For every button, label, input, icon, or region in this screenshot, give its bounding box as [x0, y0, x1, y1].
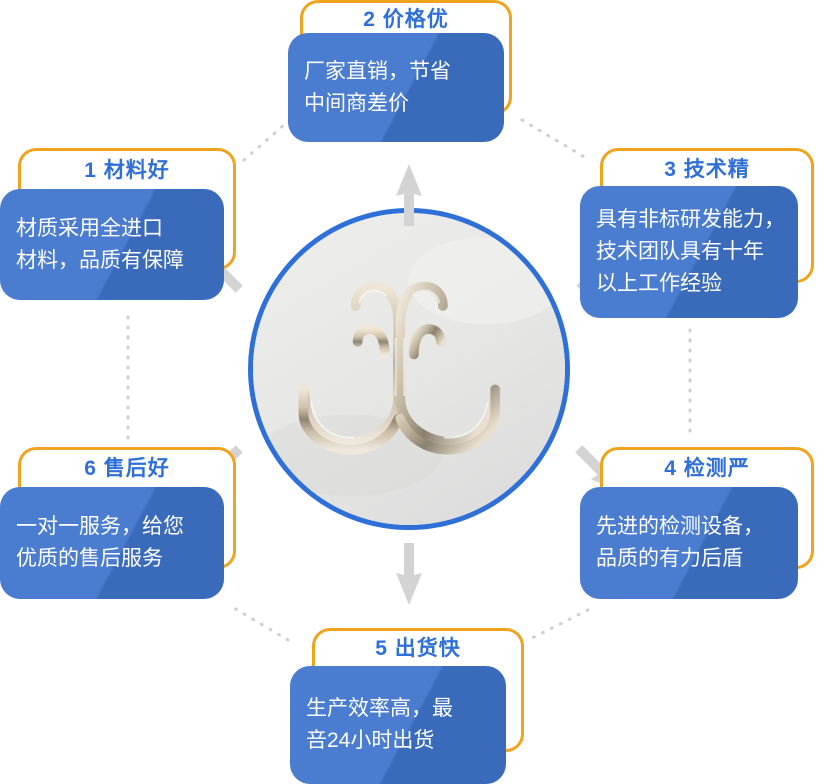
card-body-line: 中间商差价 — [304, 88, 488, 120]
card-title: 6 售后好 — [18, 458, 236, 479]
card-title: 2 价格优 — [300, 9, 512, 30]
center-product-circle — [248, 208, 570, 530]
advantage-card-3[interactable]: 3 技术精 具有非标研发能力， 技术团队具有十年 以上工作经验 — [580, 148, 817, 318]
product-photo-metal-wire-hooks — [253, 213, 565, 525]
card-body-line: 材质采用全进口 — [16, 213, 208, 245]
card-body: 材质采用全进口 材料，品质有保障 — [0, 213, 224, 277]
card-body-line: 具有非标研发能力， — [596, 204, 782, 236]
card-body-line: 厂家直销，节省 — [304, 56, 488, 88]
hex-edge-2-3 — [522, 120, 586, 158]
card-body: 生产效率高，最 咅24小时出货 — [290, 693, 506, 757]
advantage-card-5[interactable]: 5 出货快 生产效率高，最 咅24小时出货 — [290, 628, 534, 784]
center-circle-ring — [248, 208, 570, 530]
card-body-line: 技术团队具有十年 — [596, 236, 782, 268]
card-body: 先进的检测设备， 品质的有力后盾 — [580, 511, 798, 575]
advantage-card-6[interactable]: 6 售后好 一对一服务，给您 优质的售后服务 — [0, 447, 250, 599]
infographic-six-advantages: 1 材料好 材质采用全进口 材料，品质有保障 2 价格优 厂家直销，节省 中间商… — [0, 0, 817, 784]
card-body-line: 生产效率高，最 — [306, 693, 490, 725]
card-panel: 生产效率高，最 咅24小时出货 — [290, 666, 506, 784]
card-title: 3 技术精 — [600, 159, 814, 180]
card-panel: 一对一服务，给您 优质的售后服务 — [0, 487, 224, 599]
card-panel: 具有非标研发能力， 技术团队具有十年 以上工作经验 — [580, 186, 798, 318]
card-body-line: 以上工作经验 — [596, 268, 782, 300]
card-body-line: 先进的检测设备， — [596, 511, 782, 543]
hex-edge-5-6 — [234, 608, 288, 640]
card-body: 具有非标研发能力， 技术团队具有十年 以上工作经验 — [580, 204, 798, 300]
advantage-card-2[interactable]: 2 价格优 厂家直销，节省 中间商差价 — [288, 0, 528, 142]
card-title: 1 材料好 — [18, 160, 236, 181]
hex-edge-1-2 — [244, 118, 292, 160]
hex-edge-4-5 — [528, 610, 588, 640]
card-panel: 材质采用全进口 材料，品质有保障 — [0, 189, 224, 300]
card-body: 厂家直销，节省 中间商差价 — [288, 56, 504, 120]
card-panel: 先进的检测设备， 品质的有力后盾 — [580, 487, 798, 599]
advantage-card-4[interactable]: 4 检测严 先进的检测设备， 品质的有力后盾 — [580, 447, 817, 599]
card-body: 一对一服务，给您 优质的售后服务 — [0, 511, 224, 575]
card-body-line: 一对一服务，给您 — [16, 511, 208, 543]
card-title: 5 出货快 — [312, 638, 524, 659]
card-title: 4 检测严 — [600, 458, 814, 479]
card-body-line: 材料，品质有保障 — [16, 245, 208, 277]
advantage-card-1[interactable]: 1 材料好 材质采用全进口 材料，品质有保障 — [0, 148, 250, 300]
card-body-line: 咅24小时出货 — [306, 725, 490, 757]
card-body-line: 品质的有力后盾 — [596, 543, 782, 575]
card-panel: 厂家直销，节省 中间商差价 — [288, 33, 504, 142]
card-body-line: 优质的售后服务 — [16, 543, 208, 575]
